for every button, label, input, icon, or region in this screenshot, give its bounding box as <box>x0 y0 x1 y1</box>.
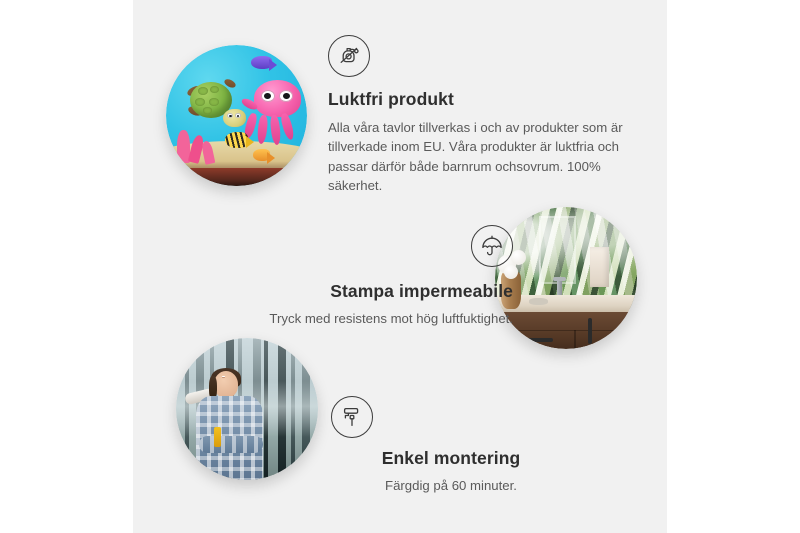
feature-odourless-product: Luktfri produkt Alla våra tavlor tillver… <box>328 35 623 196</box>
feature-description: Tryck med resistens mot hög luftfuktighe… <box>223 309 513 328</box>
underwater-cartoon-photo <box>166 45 307 186</box>
handheld-tool <box>214 427 221 447</box>
fish-yellow <box>225 132 248 148</box>
feature-title: Enkel montering <box>331 448 571 470</box>
wooden-vanity <box>504 312 637 349</box>
feature-title: Stampa impermeabile <box>223 281 513 303</box>
soap-dish <box>529 298 547 305</box>
feature-waterproof-print: Stampa impermeabile Tryck med resistens … <box>223 225 513 328</box>
bathroom-scene <box>495 207 637 349</box>
feature-description: Färgdig på 60 minuter. <box>331 476 571 495</box>
fish-purple <box>251 56 272 69</box>
feature-easy-installation: Enkel montering Färgdig på 60 minuter. <box>331 396 571 495</box>
bathroom-wallpaper-photo <box>495 207 637 349</box>
smile <box>222 376 225 377</box>
forest-decorator-photo <box>176 338 318 480</box>
paint-roller-icon <box>331 396 373 438</box>
feature-panel: Luktfri produkt Alla våra tavlor tillver… <box>133 0 667 533</box>
decorator-person <box>193 369 273 480</box>
umbrella-icon <box>471 225 513 267</box>
turtle-illustration <box>186 82 242 129</box>
feature-description: Alla våra tavlor tillverkas i och av pro… <box>328 118 623 196</box>
fish-orange <box>253 149 270 160</box>
sea-foreground-rock <box>166 168 307 186</box>
crossed-arms <box>199 436 263 454</box>
octopus-illustration <box>245 80 304 145</box>
feature-title: Luktfri produkt <box>328 89 623 111</box>
no-fragrance-icon <box>328 35 370 77</box>
forest-scene <box>176 338 318 480</box>
product-feature-page: Luktfri produkt Alla våra tavlor tillver… <box>0 0 800 533</box>
face <box>214 371 238 398</box>
hanging-towel <box>590 247 608 287</box>
bathroom-mirror <box>539 216 576 284</box>
